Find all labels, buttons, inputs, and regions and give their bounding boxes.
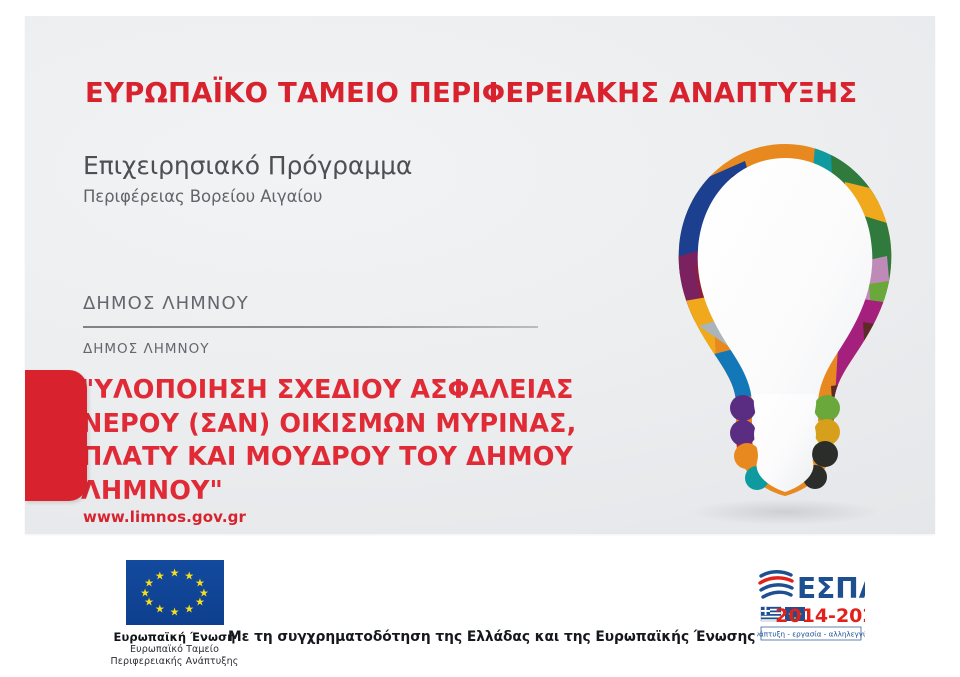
cofinancing-text: Με τη συγχρηματοδότηση της Ελλάδας και τ… [228, 629, 748, 645]
lightbulb-icon [635, 136, 935, 526]
project-title-line: ΛΗΜΝΟΥ" [81, 475, 611, 509]
red-accent-tab [25, 370, 87, 501]
municipality-subname: ΔΗΜΟΣ ΛΗΜΝΟΥ [83, 341, 210, 357]
project-title-line: ΝΕΡΟΥ (ΣΑΝ) ΟΙΚΙΣΜΩΝ ΜΥΡΙΝΑΣ, [81, 408, 611, 442]
eu-flag-icon: ★★★★★★★★★★★★ [126, 560, 224, 625]
eu-logo-line2: Ευρωπαϊκό Ταμείο [82, 644, 267, 656]
programme-title: Επιχειρησιακό Πρόγραμμα [83, 152, 412, 181]
eu-logo: ★★★★★★★★★★★★ Ευρωπαϊκή Ένωση Ευρωπαϊκό Τ… [82, 560, 267, 668]
eu-star-icon: ★ [169, 607, 180, 618]
espa-swoosh-icon [760, 572, 792, 597]
municipality-name: ΔΗΜΟΣ ΛΗΜΝΟΥ [83, 293, 249, 314]
eu-star-icon: ★ [169, 568, 180, 579]
eu-logo-line3: Περιφερειακής Ανάπτυξης [82, 656, 267, 668]
eu-star-icon: ★ [184, 570, 195, 581]
poster-panel: ΕΥΡΩΠΑΪΚΟ ΤΑΜΕΙΟ ΠΕΡΙΦΕΡΕΙΑΚΗΣ ΑΝΑΠΤΥΞΗΣ… [25, 16, 935, 534]
espa-tagline: ανάπτυξη - εργασία - αλληλεγγύη [757, 630, 865, 639]
eu-star-icon: ★ [194, 597, 205, 608]
espa-years: 2014-2020 [775, 605, 865, 627]
bulb-base-glass [754, 394, 816, 492]
espa-logo: ΕΣΠΑ 2014-2020 ανάπτυξη - εργασία - αλλη… [757, 562, 865, 650]
divider-rule [83, 326, 538, 328]
project-title: "ΥΛΟΠΟΙΗΣΗ ΣΧΕΔΙΟΥ ΑΣΦΑΛΕΙΑΣ ΝΕΡΟΥ (ΣΑΝ)… [81, 374, 611, 509]
page-title: ΕΥΡΩΠΑΪΚΟ ΤΑΜΕΙΟ ΠΕΡΙΦΕΡΕΙΑΚΗΣ ΑΝΑΠΤΥΞΗΣ [85, 78, 865, 108]
project-title-line: "ΥΛΟΠΟΙΗΣΗ ΣΧΕΔΙΟΥ ΑΣΦΑΛΕΙΑΣ [81, 374, 611, 408]
eu-star-icon: ★ [184, 604, 195, 615]
espa-wordmark: ΕΣΠΑ [797, 572, 865, 605]
website-link[interactable]: www.limnos.gov.gr [83, 508, 246, 526]
eu-star-icon: ★ [154, 604, 165, 615]
project-title-line: ΠΛΑΤΥ ΚΑΙ ΜΟΥΔΡΟΥ ΤΟΥ ΔΗΜΟΥ [81, 441, 611, 475]
eu-star-icon: ★ [154, 570, 165, 581]
programme-subtitle: Περιφέρειας Βορείου Αιγαίου [83, 187, 322, 206]
eu-star-icon: ★ [144, 577, 155, 588]
